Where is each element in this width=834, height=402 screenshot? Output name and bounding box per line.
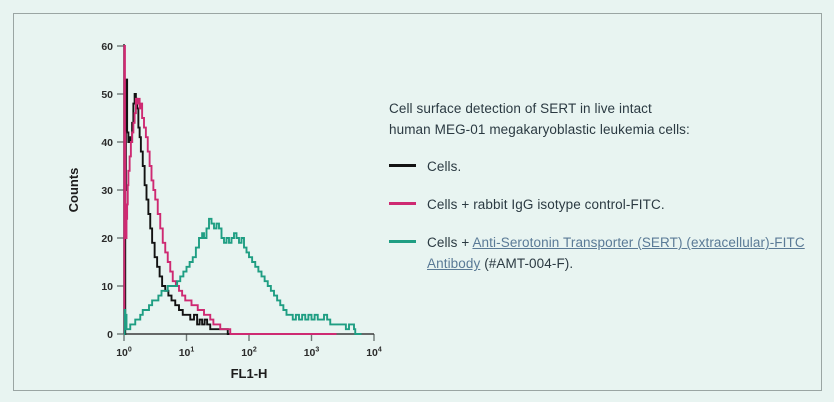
caption-line-2: human MEG-01 megakaryoblastic leukemia c… xyxy=(389,119,819,140)
x-tick-label: 104 xyxy=(366,347,382,360)
y-tick-label: 20 xyxy=(101,233,113,245)
legend-swatch-magenta xyxy=(389,202,416,205)
legend-list: Cells.Cells + rabbit IgG isotype control… xyxy=(389,156,819,274)
legend-label-prefix: Cells. xyxy=(427,159,461,174)
top-crop-strip xyxy=(0,0,834,11)
y-tick-label: 10 xyxy=(101,281,113,293)
legend-label-prefix: Cells + xyxy=(427,235,472,250)
legend-label: Cells + rabbit IgG isotype control-FITC. xyxy=(427,194,665,215)
legend-row: Cells + rabbit IgG isotype control-FITC. xyxy=(389,194,819,215)
legend-row: Cells. xyxy=(389,156,819,177)
figure-card: 0102030405060 100101102103104 Counts FL1… xyxy=(13,13,822,391)
x-tick-label: 103 xyxy=(304,347,320,360)
histogram-traces xyxy=(124,46,362,334)
y-tick-label: 30 xyxy=(101,185,113,197)
legend-swatch-teal xyxy=(389,240,416,243)
legend-panel: Cell surface detection of SERT in live i… xyxy=(389,98,819,291)
y-axis-ticks: 0102030405060 xyxy=(101,41,124,341)
legend-label-suffix: (#AMT-004-F). xyxy=(480,256,573,271)
x-axis-title: FL1-H xyxy=(231,366,268,379)
x-axis-ticks: 100101102103104 xyxy=(116,334,382,359)
y-tick-label: 50 xyxy=(101,89,113,101)
histogram-trace-1 xyxy=(124,46,337,334)
flow-cytometry-histogram: 0102030405060 100101102103104 Counts FL1… xyxy=(52,24,382,379)
legend-row: Cells + Anti-Serotonin Transporter (SERT… xyxy=(389,232,819,274)
x-tick-label: 102 xyxy=(241,347,257,360)
legend-swatch-black xyxy=(389,164,416,167)
caption-line-1: Cell surface detection of SERT in live i… xyxy=(389,98,819,119)
y-tick-label: 40 xyxy=(101,137,113,149)
legend-label: Cells. xyxy=(427,156,461,177)
histogram-svg: 0102030405060 100101102103104 Counts FL1… xyxy=(52,24,382,379)
y-axis-title: Counts xyxy=(66,168,81,213)
y-tick-label: 60 xyxy=(101,41,113,53)
y-tick-label: 0 xyxy=(107,329,113,341)
x-tick-label: 101 xyxy=(179,347,195,360)
legend-label: Cells + Anti-Serotonin Transporter (SERT… xyxy=(427,232,819,274)
histogram-trace-0 xyxy=(124,80,337,334)
legend-label-prefix: Cells + rabbit IgG isotype control-FITC. xyxy=(427,197,665,212)
x-tick-label: 100 xyxy=(116,347,132,360)
